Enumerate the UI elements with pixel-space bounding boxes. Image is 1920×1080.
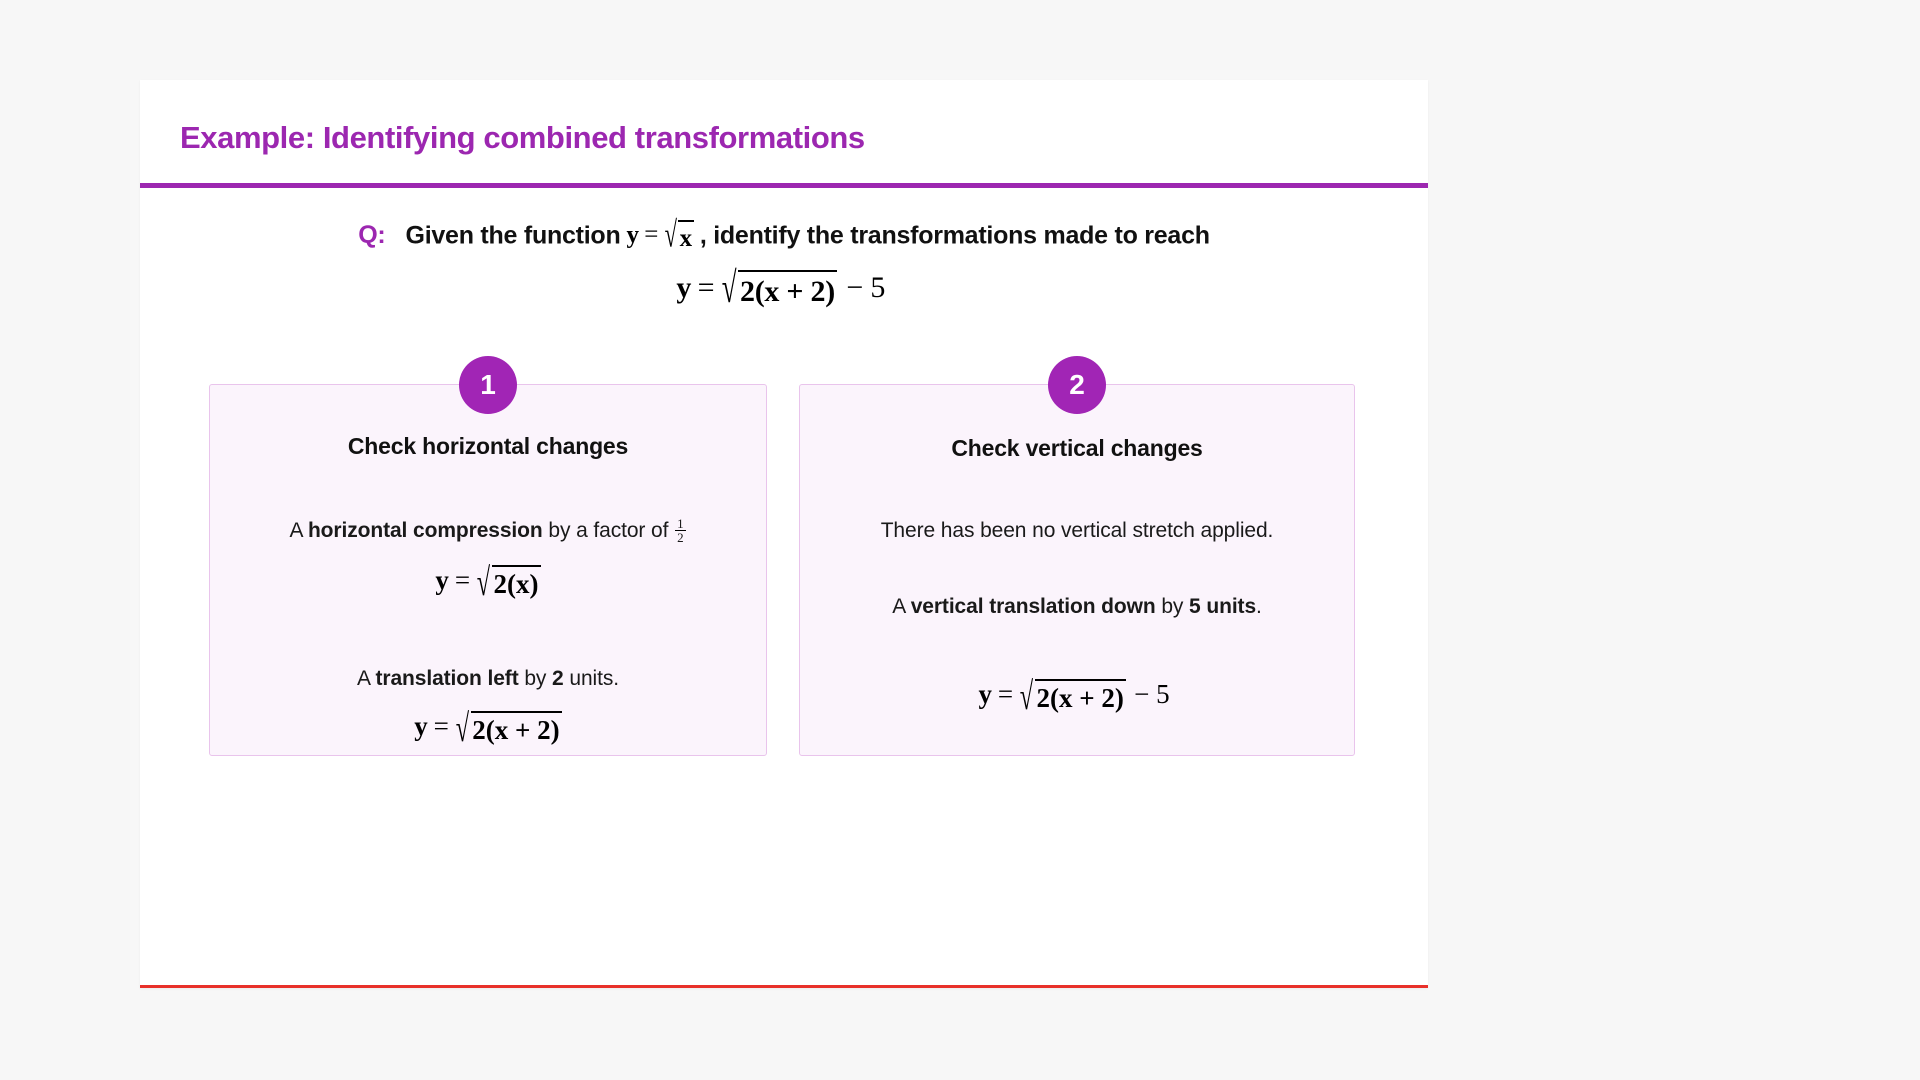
step-1-line-2-bold: translation left — [376, 667, 519, 690]
step-1-eq-2-radical: √2(x + 2) — [455, 711, 562, 746]
question-text-after: , identify the transformations made to r… — [700, 221, 1210, 249]
step-2-eq-tail: − 5 — [1134, 679, 1169, 709]
fraction-one-half: 12 — [675, 517, 685, 545]
slide-header: Example: Identifying combined transforma… — [140, 80, 1428, 188]
step-2-line-2-middle: by — [1156, 595, 1189, 618]
question-line-2: y=√2(x + 2)− 5 — [140, 270, 1428, 310]
step-card-horizontal: 1 Check horizontal changes A horizontal … — [209, 384, 767, 756]
inline-eq-operator: = — [644, 221, 658, 248]
step-2-line-2: A vertical translation down by 5 units. — [800, 593, 1354, 620]
step-1-eq-1-lhs: y — [435, 565, 449, 595]
step-2-heading: Check vertical changes — [800, 435, 1354, 462]
question-line-1: Q:Given the function y=√x , identify the… — [140, 220, 1428, 254]
step-1-eq-1-operator: = — [455, 565, 470, 595]
slide-card: Example: Identifying combined transforma… — [140, 80, 1428, 988]
step-1-eq-2-operator: = — [434, 711, 449, 741]
step-1-line-2-text: A translation left by 2 units. — [357, 667, 619, 690]
step-2-line-2-prefix: A — [892, 595, 910, 618]
step-1-eq-1-radical: √2(x) — [476, 565, 541, 600]
question-prefix: Q: — [358, 221, 385, 249]
step-1-line-1-text: A horizontal compression by a factor of … — [289, 519, 686, 542]
step-1-line-1: A horizontal compression by a factor of … — [210, 517, 766, 545]
display-eq-lhs: y — [676, 271, 691, 304]
question-block: Q:Given the function y=√x , identify the… — [140, 220, 1428, 310]
step-1-eq-1-radicand: 2(x) — [492, 565, 541, 600]
step-1-equation-2-row: y=√2(x + 2) — [210, 703, 766, 746]
display-eq-operator: = — [698, 271, 715, 304]
step-1-line-2-bold-2: 2 — [552, 667, 564, 690]
inline-eq-radical: √x — [664, 220, 694, 254]
question-inline-equation: y=√x — [626, 220, 693, 254]
step-2-line-2-text: A vertical translation down by 5 units. — [892, 595, 1262, 618]
step-2-eq-operator: = — [998, 679, 1013, 709]
step-1-heading: Check horizontal changes — [210, 433, 766, 460]
step-1-line-1-prefix: A — [289, 519, 307, 542]
step-card-vertical: 2 Check vertical changes There has been … — [799, 384, 1355, 756]
step-1-line-1-bold: horizontal compression — [308, 519, 543, 542]
radical-sign-icon: √ — [477, 560, 490, 605]
radical-sign-icon: √ — [664, 215, 676, 259]
inline-eq-lhs: y — [626, 221, 638, 248]
step-1-equation-1: y=√2(x) — [435, 565, 540, 600]
step-1-line-2-middle: by — [519, 667, 552, 690]
fraction-numerator: 1 — [675, 517, 685, 530]
step-2-eq-radical: √2(x + 2) — [1019, 679, 1126, 714]
step-1-line-1-middle: by a factor of — [543, 519, 674, 542]
question-display-equation: y=√2(x + 2)− 5 — [676, 270, 891, 310]
step-2-eq-lhs: y — [978, 679, 992, 709]
step-1-eq-2-radicand: 2(x + 2) — [471, 711, 562, 746]
question-text-before: Given the function — [406, 221, 621, 249]
step-2-line-2-bold: vertical translation down — [911, 595, 1156, 618]
fraction-denominator: 2 — [675, 530, 685, 544]
display-eq-tail: − 5 — [846, 271, 885, 304]
steps-container: 1 Check horizontal changes A horizontal … — [140, 384, 1428, 784]
inline-eq-radicand: x — [678, 220, 694, 254]
display-eq-radicand: 2(x + 2) — [738, 270, 837, 310]
step-1-eq-2-lhs: y — [414, 711, 428, 741]
page-root: Example: Identifying combined transforma… — [0, 0, 1920, 1080]
step-2-line-1: There has been no vertical stretch appli… — [800, 517, 1354, 544]
step-1-equation-2: y=√2(x + 2) — [414, 711, 562, 746]
step-2-line-2-suffix: . — [1256, 595, 1262, 618]
step-2-equation: y=√2(x + 2)− 5 — [978, 679, 1175, 714]
step-badge-1: 1 — [459, 356, 517, 414]
step-2-eq-radicand: 2(x + 2) — [1035, 679, 1126, 714]
radical-sign-icon: √ — [456, 706, 469, 751]
radical-sign-icon: √ — [1020, 674, 1033, 719]
step-2-equation-row: y=√2(x + 2)− 5 — [800, 671, 1354, 714]
step-badge-2: 2 — [1048, 356, 1106, 414]
step-1-line-2-prefix: A — [357, 667, 375, 690]
radical-sign-icon: √ — [722, 263, 737, 315]
step-2-line-1-text: There has been no vertical stretch appli… — [881, 519, 1274, 542]
step-1-line-2-suffix: units. — [564, 667, 619, 690]
page-title: Example: Identifying combined transforma… — [180, 120, 865, 156]
step-1-line-2: A translation left by 2 units. — [210, 665, 766, 692]
step-2-line-2-bold-2: 5 units — [1189, 595, 1256, 618]
step-1-equation-1-row: y=√2(x) — [210, 557, 766, 600]
display-eq-radical: √2(x + 2) — [721, 270, 837, 310]
